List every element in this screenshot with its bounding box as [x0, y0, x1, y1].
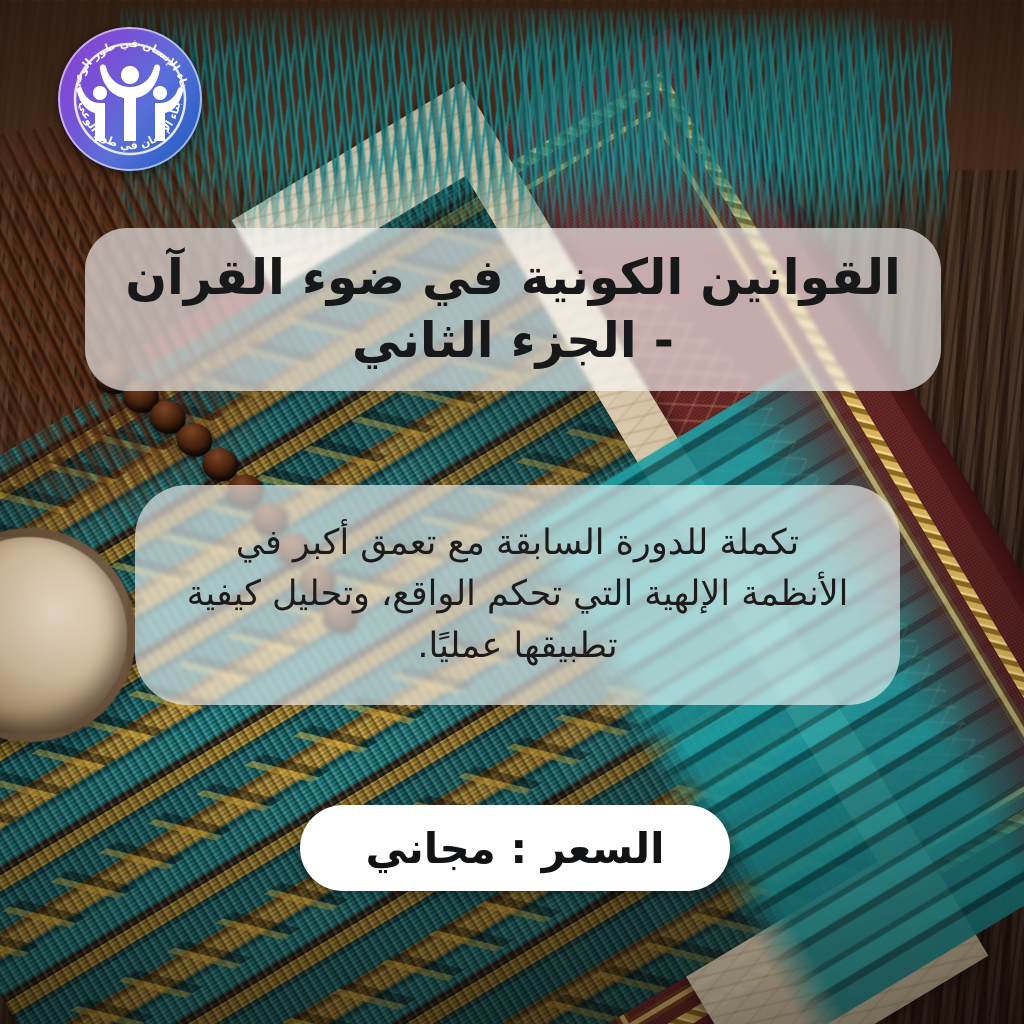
course-description-card: تكملة للدورة السابقة مع تعمق أكبر في الأ… — [135, 485, 900, 705]
course-title: القوانين الكونية في ضوء القرآن - الجزء ا… — [111, 247, 915, 371]
course-description: تكملة للدورة السابقة مع تعمق أكبر في الأ… — [181, 518, 854, 671]
svg-text:بناء الإنسان في طور الوعي: بناء الإنسان في طور الوعي — [68, 37, 191, 94]
promo-poster: بناء الإنسان في طور الوعي بناء الإنسان ف… — [0, 0, 1024, 1024]
course-title-card: القوانين الكونية في ضوء القرآن - الجزء ا… — [85, 228, 941, 391]
organization-logo[interactable]: بناء الإنسان في طور الوعي بناء الإنسان ف… — [58, 27, 202, 171]
price-badge[interactable]: السعر : مجاني — [300, 805, 730, 891]
price-label: السعر : مجاني — [365, 824, 664, 873]
logo-graphic: بناء الإنسان في طور الوعي بناء الإنسان ف… — [58, 27, 202, 171]
